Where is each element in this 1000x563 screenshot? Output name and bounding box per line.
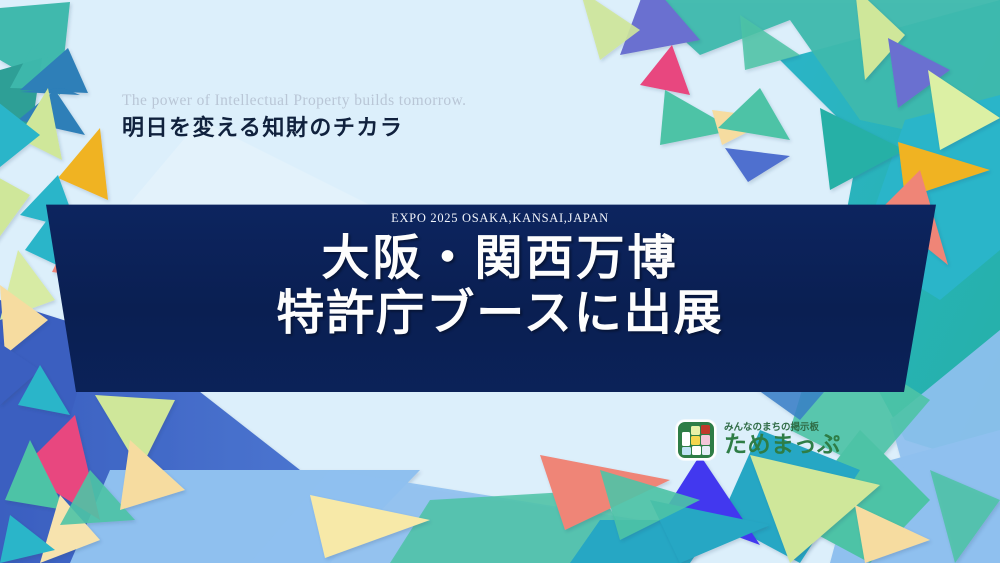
expo-eyebrow-text: EXPO 2025 OSAKA,KANSAI,JAPAN <box>391 212 609 225</box>
logo-block-3 <box>691 436 700 445</box>
tagline-block: The power of Intellectual Property build… <box>122 92 466 142</box>
logo-block-7 <box>702 446 710 455</box>
headline-line-1: 大阪・関西万博 <box>276 231 724 287</box>
logo-subtitle: みんなのまちの掲示板 <box>724 423 841 433</box>
logo-block-6 <box>692 446 701 455</box>
logo-block-4 <box>701 435 710 445</box>
headline-line-2: 特許庁ブースに出展 <box>276 286 724 342</box>
logo-block-2 <box>701 425 710 434</box>
poster-canvas: The power of Intellectual Property build… <box>0 0 1000 563</box>
logo-text-group: みんなのまちの掲示板 ためまっぷ <box>724 423 841 458</box>
main-banner: EXPO 2025 OSAKA,KANSAI,JAPAN 大阪・関西万博 特許庁… <box>0 196 1000 401</box>
logo-block-0 <box>682 432 690 446</box>
logo-block-5 <box>682 447 691 455</box>
tagline-english: The power of Intellectual Property build… <box>122 92 466 111</box>
banner-headline: 大阪・関西万博 特許庁ブースに出展 <box>276 231 724 342</box>
logo-block-1 <box>691 426 700 435</box>
tagline-japanese: 明日を変える知財のチカラ <box>122 115 466 143</box>
tamemap-logo[interactable]: みんなのまちの掲示板 ためまっぷ <box>676 420 841 460</box>
logo-wordmark: ためまっぷ <box>724 434 841 457</box>
tamemap-logo-mark <box>676 420 716 460</box>
